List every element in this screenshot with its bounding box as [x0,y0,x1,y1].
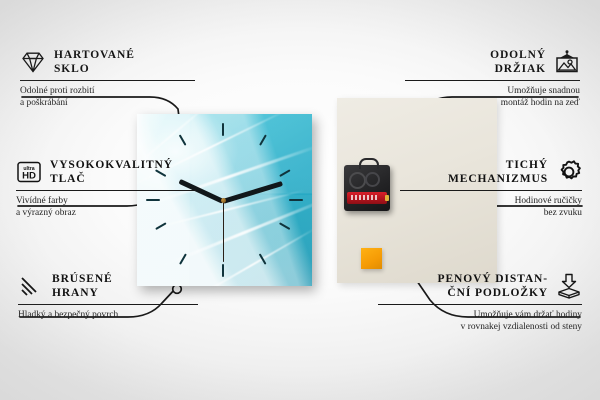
feature-desc-line1: Umožňuje snadnou [405,85,580,97]
feature-title-line2: DRŽIAK [490,62,546,76]
feature-desc-line1: Vivídné farby [16,195,196,207]
feature-title-line2: MECHANIZMUS [448,172,548,186]
feature-title-line1: ODOLNÝ [490,48,546,62]
feature-title-line1: HARTOVANÉ [54,48,135,62]
divider [405,80,580,81]
divider [20,80,195,81]
infographic-canvas: HARTOVANÉ SKLO Odolné proti rozbití a po… [0,0,600,400]
callout-foam-spacers: PENOVÝ DISTAN- ČNÍ PODLOŽKY Umožňuje vám… [378,272,582,334]
feature-desc-line2: a výrazný obraz [16,207,196,219]
svg-text:HD: HD [22,171,36,182]
feature-desc-line2: v rovnakej vzdialenosti od steny [378,321,582,333]
clock-mechanism [344,165,390,211]
mechanism-dial-secondary [365,172,380,187]
aa-battery [347,192,387,204]
callout-high-quality-print: ultra HD VYSOKOKVALITNÝ TLAČ Vivídné far… [16,158,196,220]
feature-title-line2: SKLO [54,62,135,76]
gear-icon [556,159,582,185]
callout-tempered-glass: HARTOVANÉ SKLO Odolné proti rozbití a po… [20,48,195,110]
feature-desc-line1: Odolné proti rozbití [20,85,195,97]
feature-title-line2: TLAČ [50,172,173,186]
feature-title-line1: PENOVÝ DISTAN- [438,272,548,286]
feature-title-line2: HRANY [52,286,113,300]
diamond-icon [20,49,46,75]
ultra-hd-badge-icon: ultra HD [16,159,42,185]
divider [400,190,582,191]
polished-edges-icon [18,273,44,299]
feature-desc-line2: a poškrábání [20,97,195,109]
feature-desc-line2: bez zvuku [400,207,582,219]
feature-desc-line1: Hodinové ručičky [400,195,582,207]
foam-spacer-pad [361,248,382,269]
picture-frame-hanger-icon [554,49,580,75]
feature-title-line1: BRÚSENÉ [52,272,113,286]
feature-title-line2: ČNÍ PODLOŽKY [438,286,548,300]
callout-silent-mechanism: TICHÝ MECHANIZMUS Hodinové ručičky bez z… [400,158,582,220]
battery-label [351,195,377,200]
feature-title-line1: VYSOKOKVALITNÝ [50,158,173,172]
clock-center-pin [221,198,226,203]
battery-terminal [385,195,389,201]
divider [18,304,198,305]
divider [16,190,196,191]
mechanism-hanger-hook [359,158,379,169]
feature-desc-line2: montáž hodin na zeď [405,97,580,109]
callout-durable-hanger: ODOLNÝ DRŽIAK Umožňuje snadnou montáž ho… [405,48,580,110]
feature-title-line1: TICHÝ [448,158,548,172]
feature-desc-line1: Hladký a bezpečný povrch [18,309,198,321]
feature-desc-line1: Umožňuje vám držať hodiny [378,309,582,321]
divider [378,304,582,305]
mechanism-dial [349,172,366,189]
foam-spacer-arrow-icon [556,273,582,299]
callout-polished-edges: BRÚSENÉ HRANY Hladký a bezpečný povrch [18,272,198,321]
